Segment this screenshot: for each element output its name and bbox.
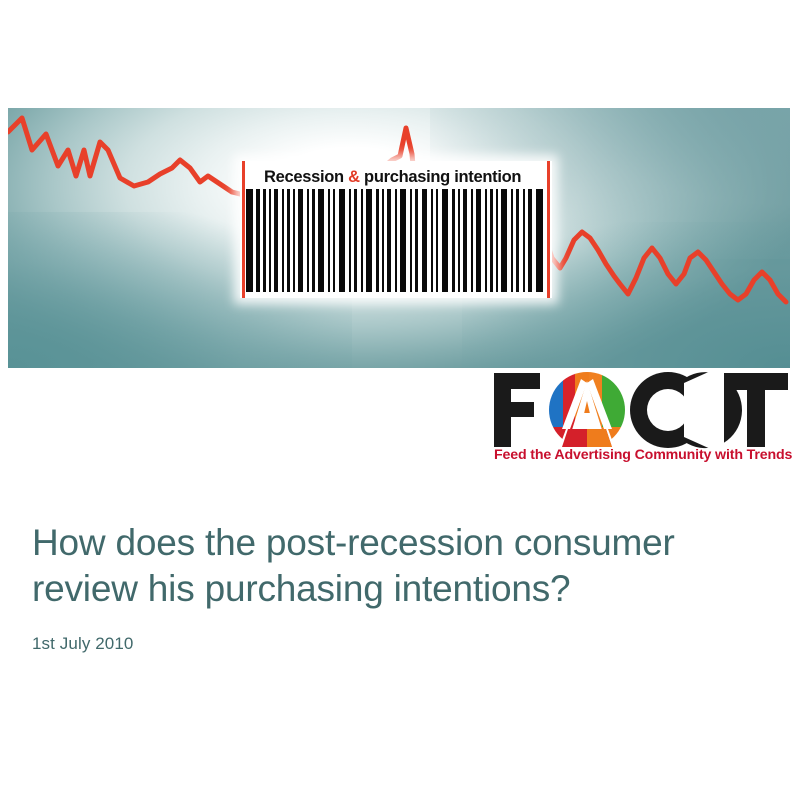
title-block: How does the post-recession consumer rev… <box>32 520 752 654</box>
barcode-bar <box>256 189 260 292</box>
barcode-title-ampersand: & <box>348 168 360 186</box>
barcode-bar <box>354 189 357 292</box>
barcode-bar <box>333 189 335 292</box>
trend-line-left-segment <box>8 118 270 198</box>
barcode-bar <box>463 189 467 292</box>
barcode-bar <box>274 189 278 292</box>
barcode-bar <box>298 189 303 292</box>
barcode-bar <box>287 189 290 292</box>
barcode-bar <box>442 189 448 292</box>
barcode-bar <box>263 189 266 292</box>
barcode-bar <box>307 189 309 292</box>
barcode-bar <box>422 189 427 292</box>
barcode-bar <box>452 189 455 292</box>
barcode-bar <box>410 189 412 292</box>
barcode-bar <box>458 189 460 292</box>
recession-hero-banner: Recession & purchasing intention <box>8 108 790 368</box>
barcode-bar <box>476 189 481 292</box>
barcode-bar <box>528 189 532 292</box>
barcode-bar <box>511 189 513 292</box>
page-title: How does the post-recession consumer rev… <box>32 520 752 612</box>
barcode-bar <box>485 189 487 292</box>
barcode-bar <box>376 189 379 292</box>
barcode-title-prefix: Recession <box>264 168 348 186</box>
barcode-bar <box>400 189 406 292</box>
barcode-bar <box>318 189 324 292</box>
barcode-title-text: Recession & purchasing intention <box>264 165 532 189</box>
barcode-bar <box>516 189 519 292</box>
logo-letter-a <box>549 371 627 449</box>
barcode-graphic: Recession & purchasing intention <box>240 161 552 298</box>
barcode-bar <box>312 189 315 292</box>
barcode-bar <box>415 189 418 292</box>
barcode-bar <box>366 189 372 292</box>
barcode-bar <box>501 189 507 292</box>
barcode-left-red-edge <box>242 161 245 298</box>
barcode-bar <box>471 189 473 292</box>
barcode-bar <box>349 189 351 292</box>
logo-letter-f <box>494 373 540 447</box>
barcode-bar <box>490 189 493 292</box>
barcode-bar <box>395 189 397 292</box>
barcode-bar <box>293 189 295 292</box>
barcode-bar <box>431 189 433 292</box>
barcode-bar <box>496 189 498 292</box>
fact-wordmark-graphic <box>492 371 790 449</box>
fact-logo: Feed the Advertising Community with Tren… <box>492 371 790 473</box>
barcode-bar <box>387 189 391 292</box>
barcode-bars-container <box>246 189 546 292</box>
barcode-bar <box>361 189 363 292</box>
barcode-bar <box>269 189 271 292</box>
fact-tagline: Feed the Advertising Community with Tren… <box>494 447 790 463</box>
barcode-bar <box>328 189 330 292</box>
barcode-bar <box>382 189 384 292</box>
barcode-title-suffix: purchasing intention <box>360 168 521 186</box>
barcode-bar <box>536 189 543 292</box>
barcode-right-red-edge <box>547 161 550 298</box>
barcode-bar <box>339 189 345 292</box>
barcode-bar <box>246 189 253 292</box>
barcode-bar <box>523 189 525 292</box>
page-date: 1st July 2010 <box>32 634 752 654</box>
barcode-bar <box>436 189 438 292</box>
barcode-bar <box>282 189 284 292</box>
